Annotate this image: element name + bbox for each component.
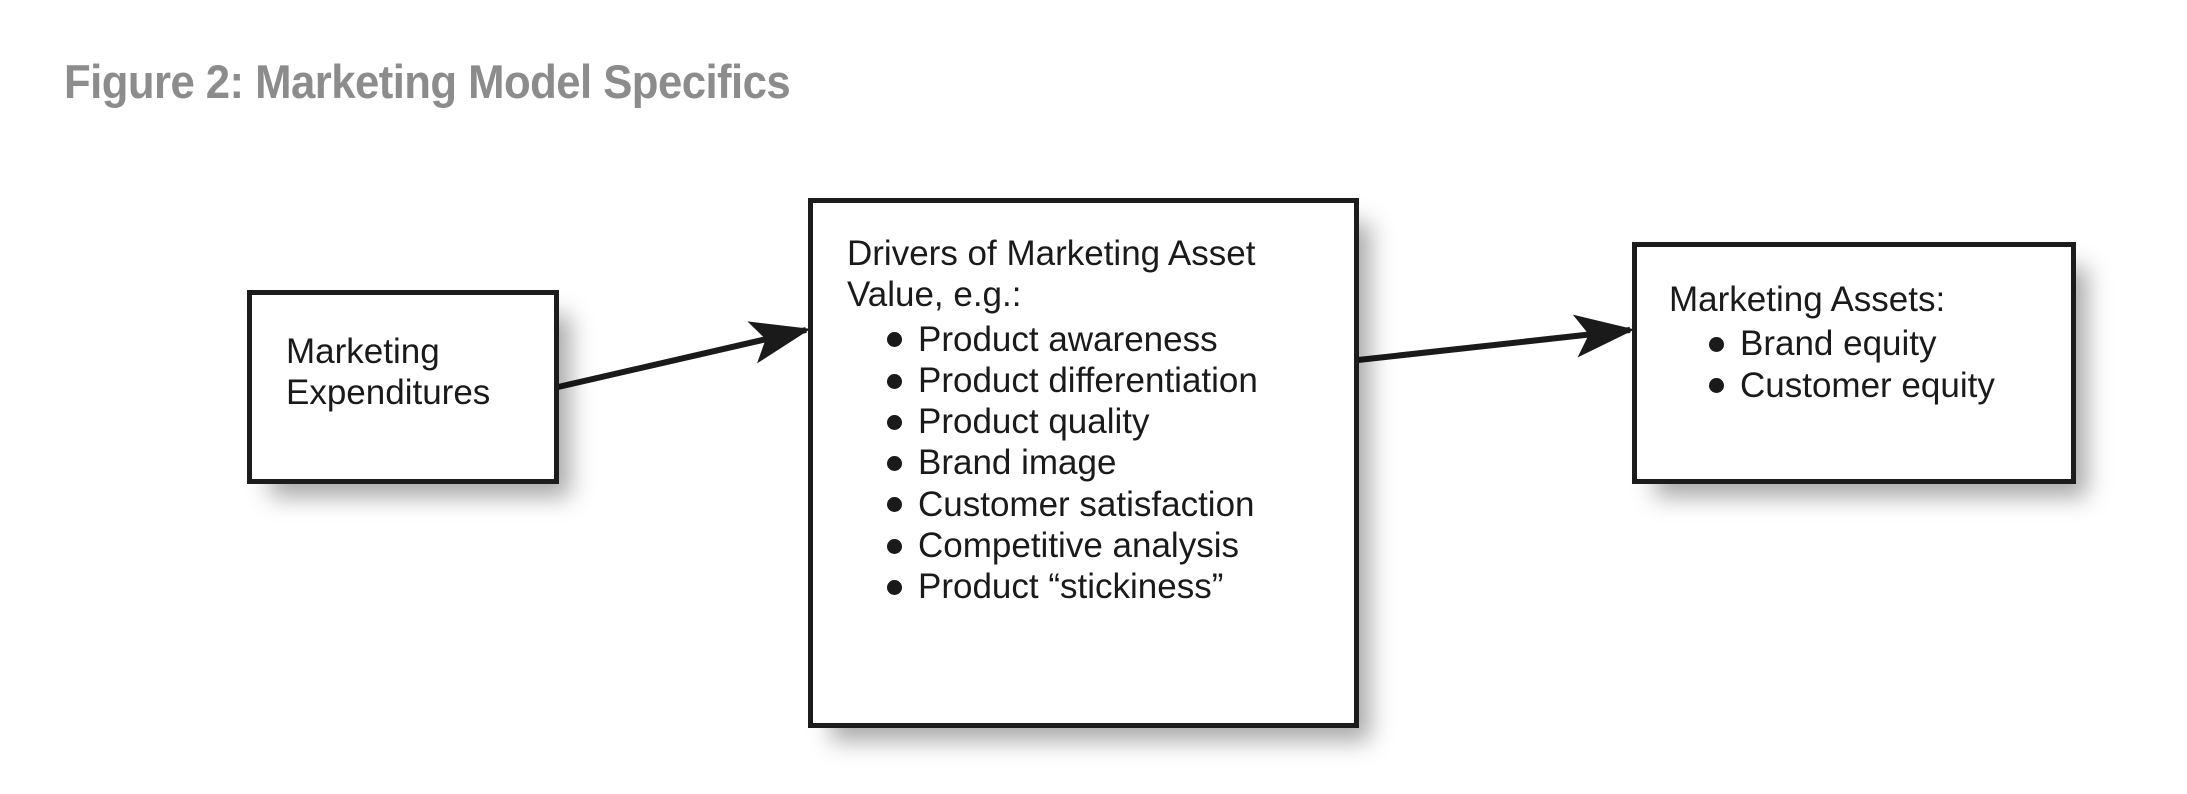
bullet-dot-icon <box>887 497 902 512</box>
list-item: Product awareness <box>887 319 1354 360</box>
bullet-dot-icon <box>887 539 902 554</box>
figure-title: Figure 2: Marketing Model Specifics <box>64 56 790 108</box>
list-item-label: Product awareness <box>918 320 1218 359</box>
box-drivers-bullet-list: Product awareness Product differentiatio… <box>847 319 1354 608</box>
box-assets-bullet-list: Brand equity Customer equity <box>1669 323 2071 406</box>
list-item-label: Customer satisfaction <box>918 485 1255 524</box>
box-marketing-expenditures: Marketing Expenditures <box>247 290 559 484</box>
box-expenditures-line-2: Expenditures <box>286 372 554 413</box>
bullet-dot-icon <box>887 580 902 595</box>
list-item-label: Brand image <box>918 443 1116 482</box>
list-item-label: Customer equity <box>1740 366 1995 405</box>
list-item: Brand equity <box>1709 323 2071 364</box>
box-drivers-of-marketing-asset-value: Drivers of Marketing Asset Value, e.g.: … <box>808 198 1359 728</box>
bullet-dot-icon <box>887 456 902 471</box>
list-item-label: Product differentiation <box>918 361 1258 400</box>
list-item: Brand image <box>887 442 1354 483</box>
list-item-label: Product “stickiness” <box>918 567 1223 606</box>
box-assets-heading: Marketing Assets: <box>1669 279 2071 320</box>
box-drivers-heading-line-1: Drivers of Marketing Asset <box>847 233 1354 274</box>
bullet-dot-icon <box>887 415 902 430</box>
arrow-expenditures-to-drivers <box>558 330 806 387</box>
bullet-dot-icon <box>887 374 902 389</box>
box-expenditures-line-1: Marketing <box>286 331 554 372</box>
box-marketing-assets-content: Marketing Assets: Brand equity Customer … <box>1637 247 2071 406</box>
list-item-label: Brand equity <box>1740 324 1937 363</box>
box-marketing-assets: Marketing Assets: Brand equity Customer … <box>1632 242 2076 484</box>
list-item: Competitive analysis <box>887 525 1354 566</box>
box-drivers-content: Drivers of Marketing Asset Value, e.g.: … <box>813 203 1354 608</box>
bullet-dot-icon <box>1709 337 1724 352</box>
arrow-drivers-to-assets <box>1358 330 1630 360</box>
box-marketing-expenditures-content: Marketing Expenditures <box>252 295 554 414</box>
bullet-dot-icon <box>1709 378 1724 393</box>
list-item: Product “stickiness” <box>887 566 1354 607</box>
list-item-label: Product quality <box>918 402 1150 441</box>
box-drivers-heading-line-2: Value, e.g.: <box>847 274 1354 315</box>
list-item: Product quality <box>887 401 1354 442</box>
list-item: Customer equity <box>1709 365 2071 406</box>
list-item: Customer satisfaction <box>887 484 1354 525</box>
list-item: Product differentiation <box>887 360 1354 401</box>
bullet-dot-icon <box>887 332 902 347</box>
list-item-label: Competitive analysis <box>918 526 1239 565</box>
figure-canvas: Figure 2: Marketing Model Specifics Mark… <box>0 0 2187 794</box>
